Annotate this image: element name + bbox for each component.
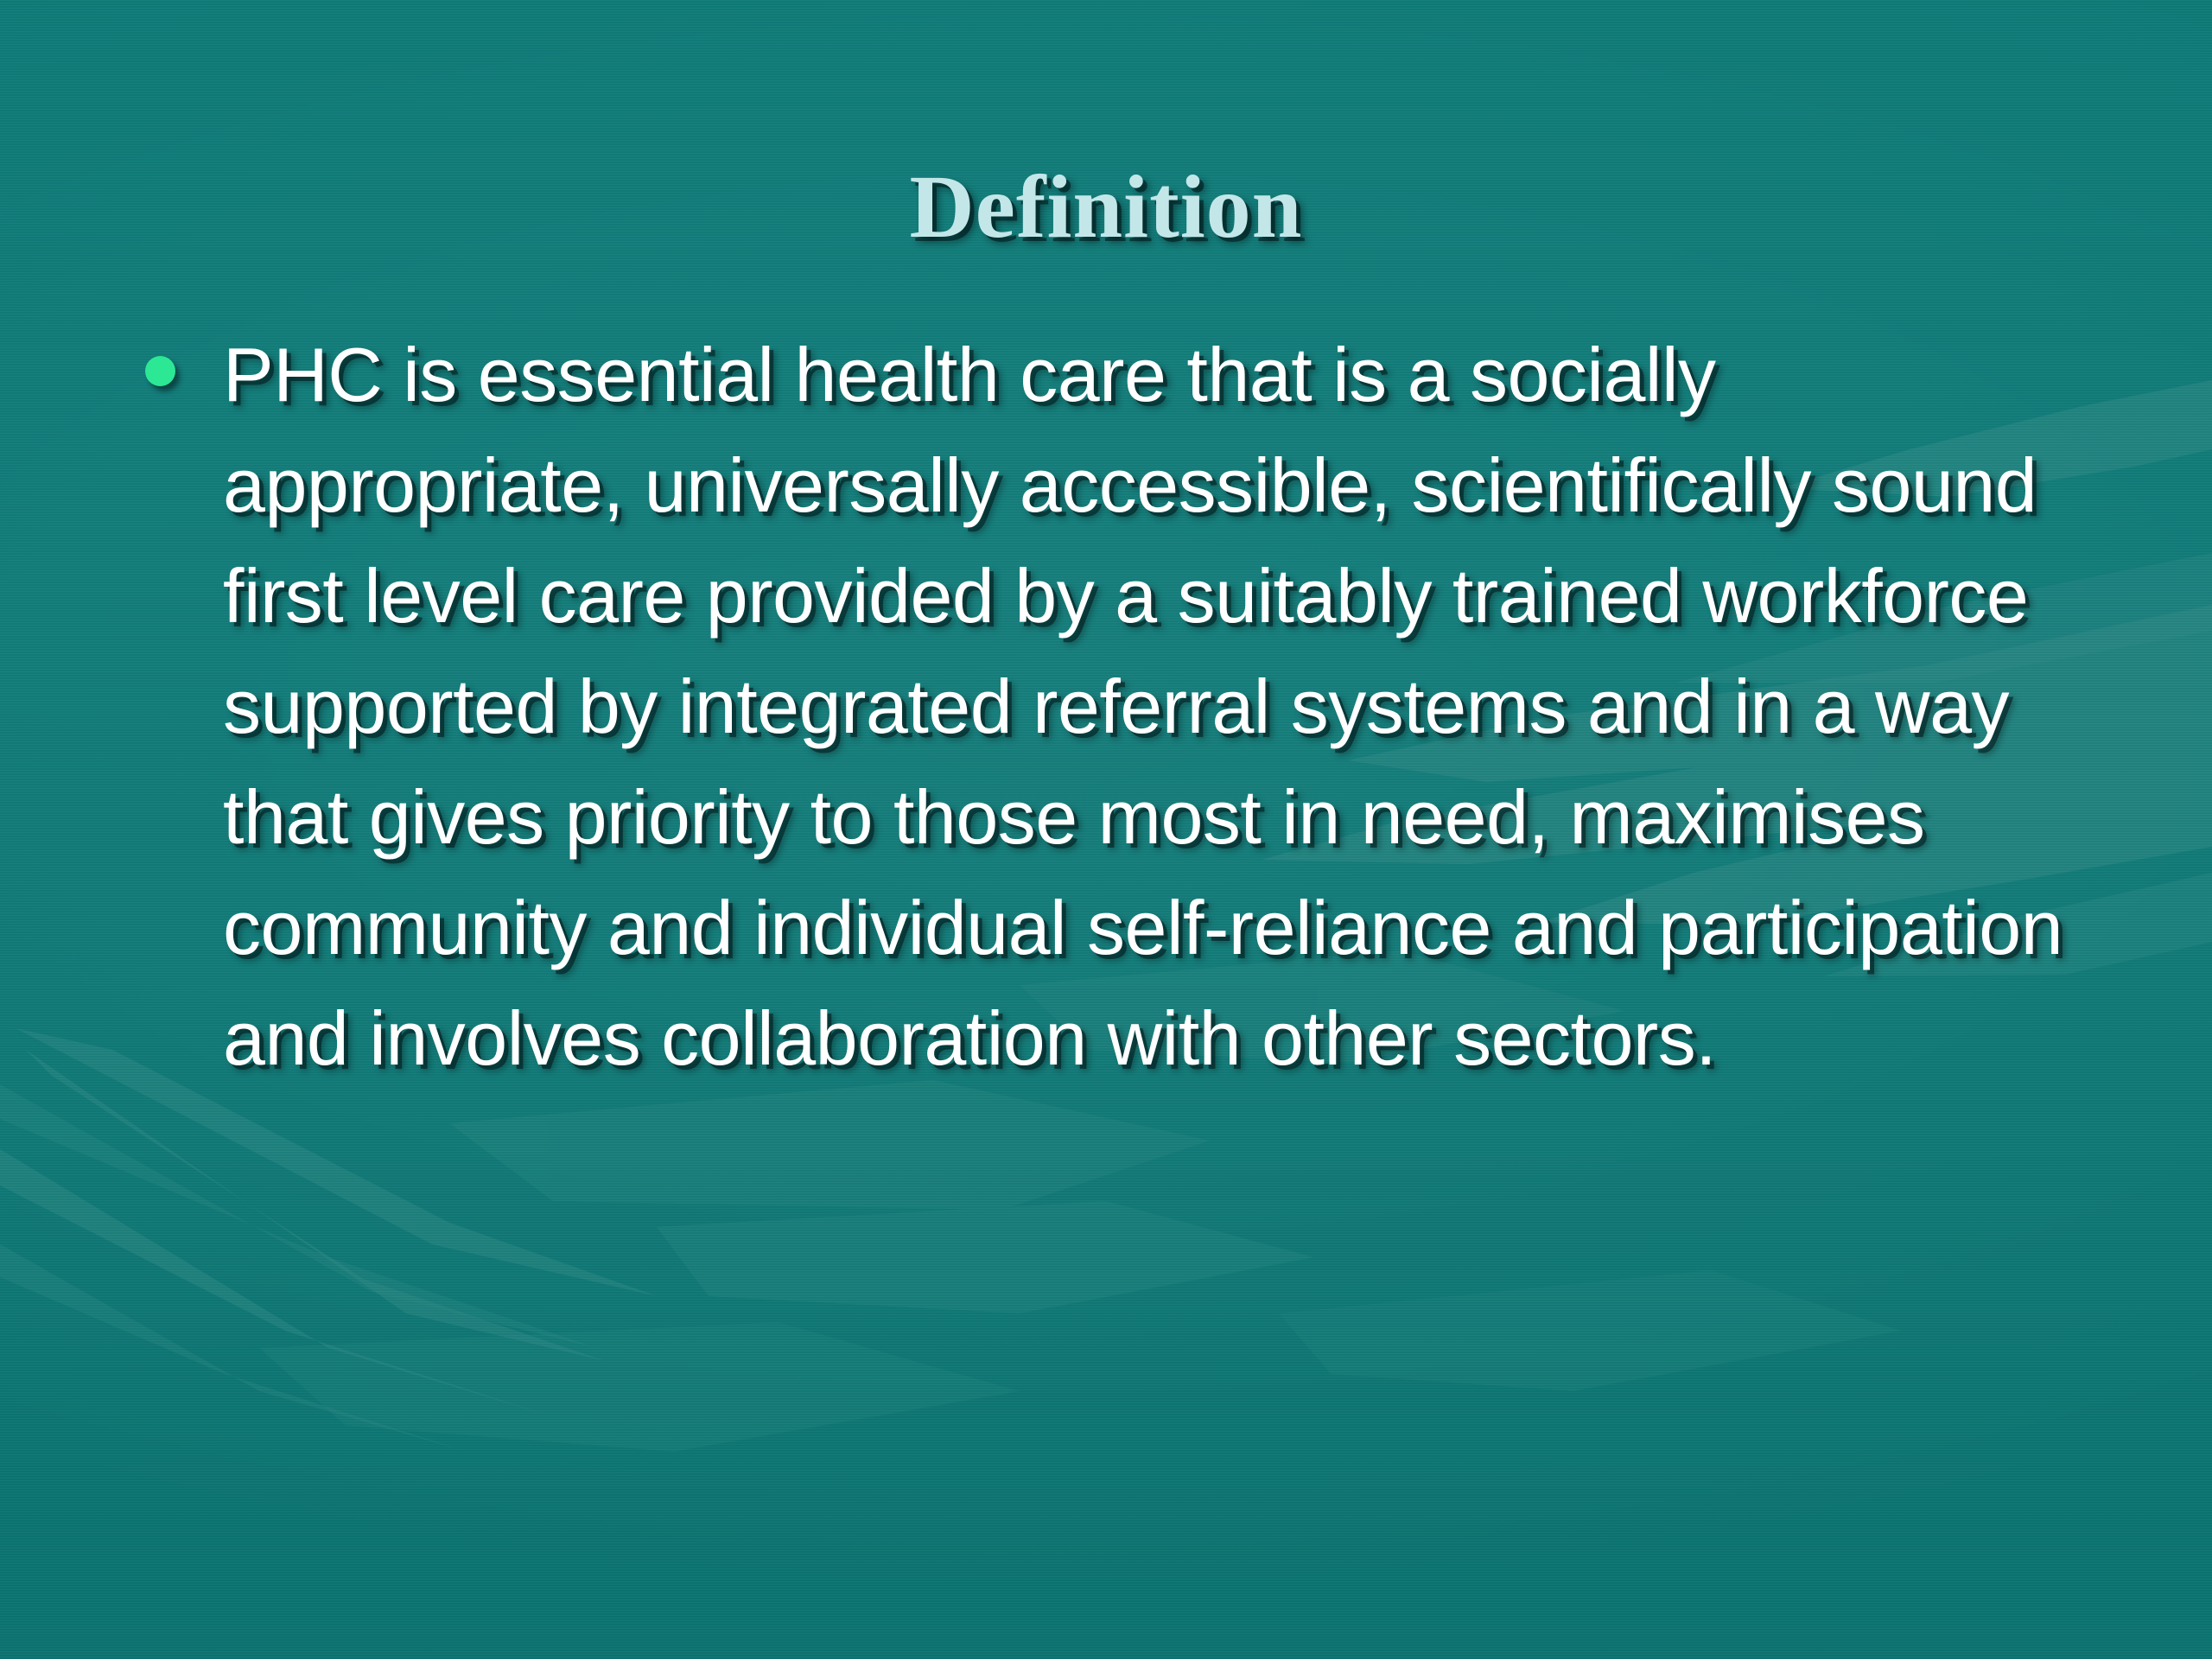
body-content: PHC is essential health care that is a s… <box>121 320 2134 1094</box>
filled-circle-icon <box>145 356 175 386</box>
bullet-list: PHC is essential health care that is a s… <box>121 320 2134 1094</box>
list-item: PHC is essential health care that is a s… <box>121 320 2134 1094</box>
title-container: Definition <box>0 102 2212 312</box>
presentation-slide: Definition PHC is essential health care … <box>0 0 2212 1659</box>
page-title: Definition <box>910 162 1303 252</box>
bullet-item-text: PHC is essential health care that is a s… <box>223 320 2134 1094</box>
